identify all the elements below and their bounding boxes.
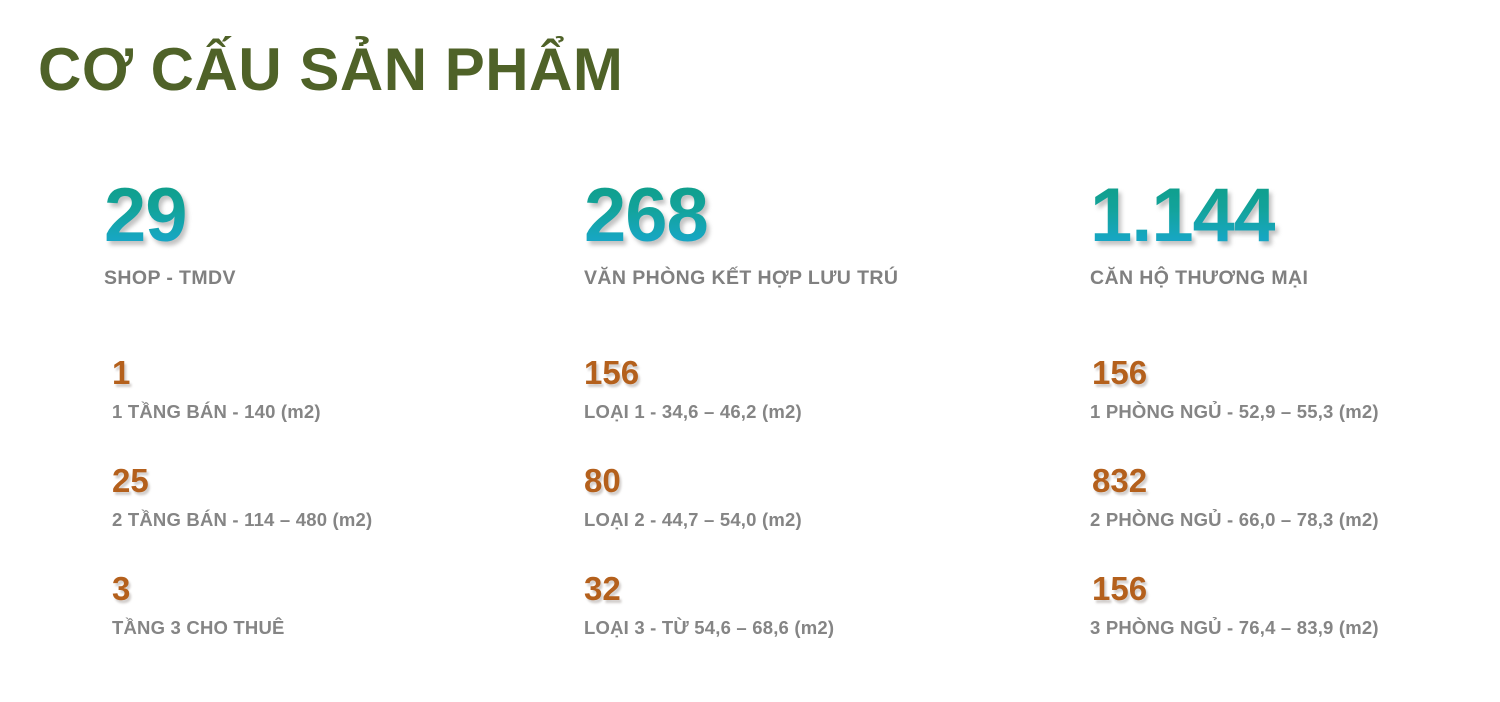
- category-total-count: 1.144: [1090, 178, 1275, 254]
- detail-label: 2 PHÒNG NGỦ - 66,0 – 78,3 (m2): [1090, 509, 1379, 530]
- detail-row: 25 2 TẦNG BÁN - 114 – 480 (m2): [104, 464, 372, 530]
- detail-count: 32: [584, 572, 834, 605]
- detail-row: 156 LOẠI 1 - 34,6 – 46,2 (m2): [584, 356, 802, 422]
- page-title: CƠ CẤU SẢN PHẨM: [38, 38, 623, 101]
- category-title: VĂN PHÒNG KẾT HỢP LƯU TRÚ: [584, 268, 1084, 289]
- category-title: CĂN HỘ THƯƠNG MẠI: [1090, 268, 1500, 289]
- detail-row: 32 LOẠI 3 - TỪ 54,6 – 68,6 (m2): [584, 572, 834, 638]
- detail-row: 1 1 TẦNG BÁN - 140 (m2): [104, 356, 321, 422]
- detail-row: 80 LOẠI 2 - 44,7 – 54,0 (m2): [584, 464, 802, 530]
- detail-label: LOẠI 1 - 34,6 – 46,2 (m2): [584, 401, 802, 422]
- category-column-shop-tmdv: 29 SHOP - TMDV 1 1 TẦNG BÁN - 140 (m2) 2…: [104, 178, 574, 289]
- category-title: SHOP - TMDV: [104, 268, 574, 289]
- detail-count: 25: [112, 464, 372, 497]
- detail-row: 156 3 PHÒNG NGỦ - 76,4 – 83,9 (m2): [1090, 572, 1379, 638]
- category-total-count: 268: [584, 178, 708, 254]
- detail-count: 3: [112, 572, 285, 605]
- detail-row: 832 2 PHÒNG NGỦ - 66,0 – 78,3 (m2): [1090, 464, 1379, 530]
- detail-count: 832: [1092, 464, 1379, 497]
- category-column-can-ho-thuong-mai: 1.144 CĂN HỘ THƯƠNG MẠI 156 1 PHÒNG NGỦ …: [1090, 178, 1500, 289]
- detail-count: 156: [1092, 572, 1379, 605]
- detail-label: TẦNG 3 CHO THUÊ: [112, 617, 285, 638]
- category-column-van-phong-ket-hop-luu-tru: 268 VĂN PHÒNG KẾT HỢP LƯU TRÚ 156 LOẠI 1…: [584, 178, 1084, 289]
- detail-label: 3 PHÒNG NGỦ - 76,4 – 83,9 (m2): [1090, 617, 1379, 638]
- detail-count: 156: [584, 356, 802, 389]
- detail-count: 156: [1092, 356, 1379, 389]
- detail-label: LOẠI 2 - 44,7 – 54,0 (m2): [584, 509, 802, 530]
- detail-label: LOẠI 3 - TỪ 54,6 – 68,6 (m2): [584, 617, 834, 638]
- detail-row: 3 TẦNG 3 CHO THUÊ: [104, 572, 285, 638]
- category-total-count: 29: [104, 178, 187, 254]
- detail-label: 1 TẦNG BÁN - 140 (m2): [112, 401, 321, 422]
- detail-label: 1 PHÒNG NGỦ - 52,9 – 55,3 (m2): [1090, 401, 1379, 422]
- detail-label: 2 TẦNG BÁN - 114 – 480 (m2): [112, 509, 372, 530]
- detail-count: 1: [112, 356, 321, 389]
- detail-row: 156 1 PHÒNG NGỦ - 52,9 – 55,3 (m2): [1090, 356, 1379, 422]
- product-structure-infographic: CƠ CẤU SẢN PHẨM 29 SHOP - TMDV 1 1 TẦNG …: [0, 0, 1500, 702]
- detail-count: 80: [584, 464, 802, 497]
